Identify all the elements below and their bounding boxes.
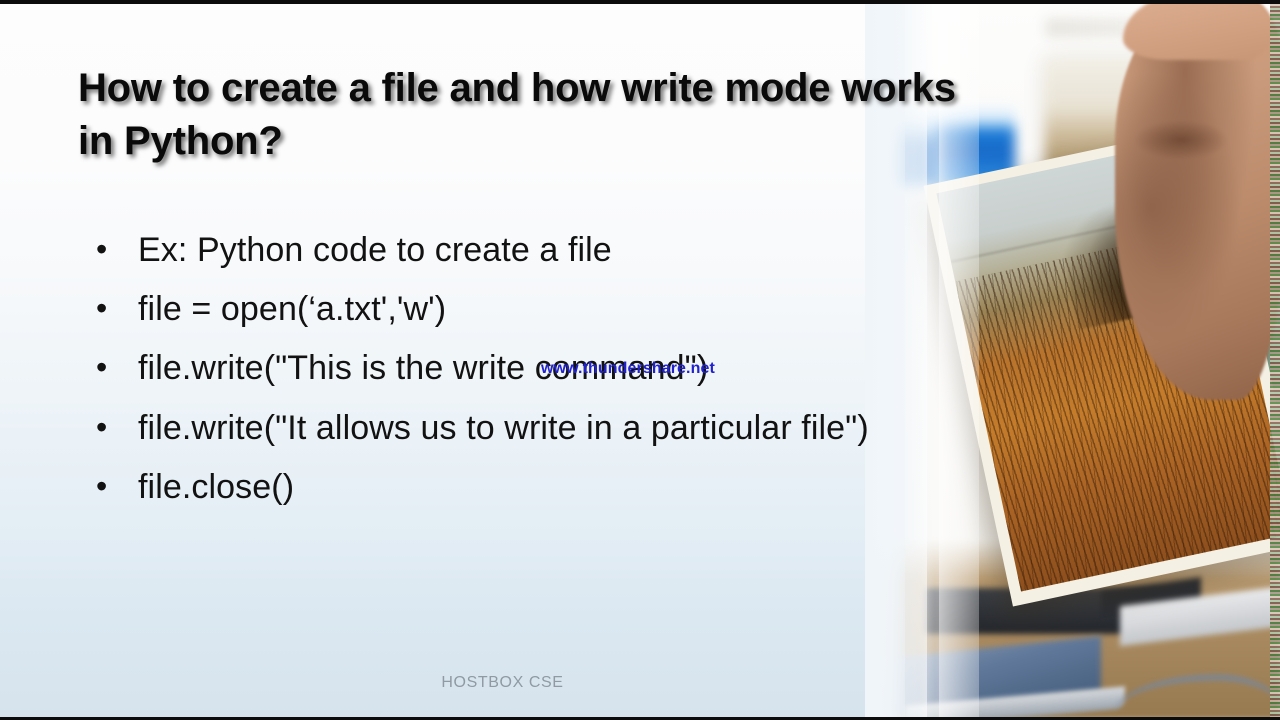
slide-content: How to create a file and how write mode … [0, 0, 1280, 720]
bullet-text: Ex: Python code to create a file [138, 228, 612, 273]
bullet-text: file.close() [138, 465, 294, 510]
top-border-band [0, 0, 1280, 4]
watermark-text: www.thundershare.net [541, 360, 715, 378]
bullet-marker-icon: • [96, 228, 138, 271]
list-item: • file = open(‘a.txt','w') [96, 287, 976, 332]
bullet-marker-icon: • [96, 346, 138, 389]
presentation-slide: How to create a file and how write mode … [0, 0, 1280, 720]
footer-label: HOSTBOX CSE [441, 674, 563, 691]
edge-noise-artifact [1270, 0, 1280, 720]
slide-title: How to create a file and how write mode … [78, 62, 958, 168]
bullet-marker-icon: • [96, 287, 138, 330]
bullet-marker-icon: • [96, 465, 138, 508]
bullet-text: file = open(‘a.txt','w') [138, 287, 446, 332]
bullet-list: • Ex: Python code to create a file • fil… [96, 228, 976, 524]
list-item: • file.close() [96, 465, 976, 510]
list-item: • file.write("This is the write command"… [96, 346, 976, 391]
bullet-text: file.write("It allows us to write in a p… [138, 406, 869, 451]
slide-footer: HOSTBOX CSE [0, 674, 1280, 692]
list-item: • Ex: Python code to create a file [96, 228, 976, 273]
bullet-marker-icon: • [96, 406, 138, 449]
list-item: • file.write("It allows us to write in a… [96, 406, 976, 451]
